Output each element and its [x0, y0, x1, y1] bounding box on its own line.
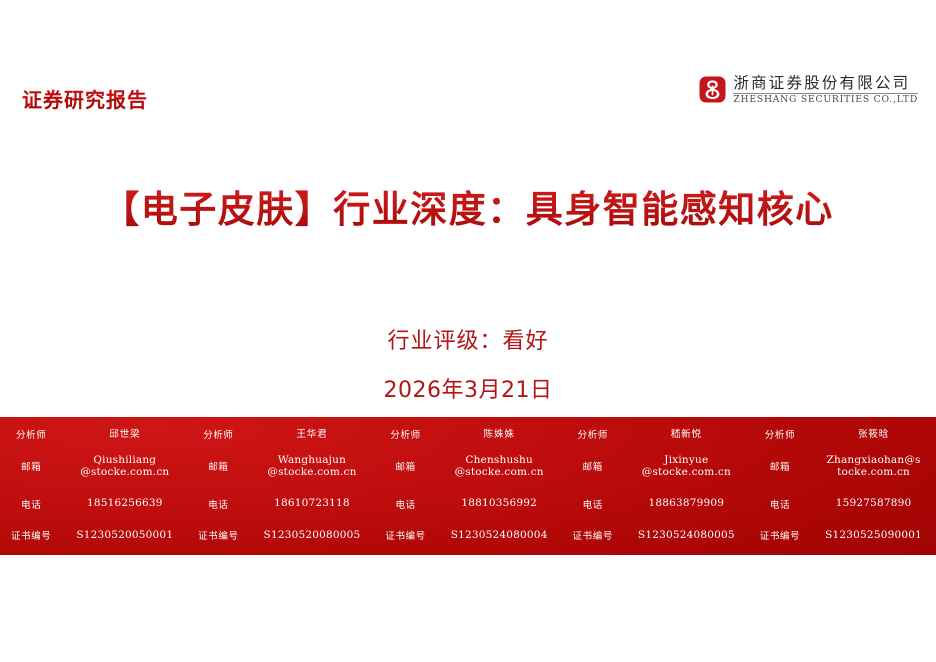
- analyst-cert-1: S1230520050001: [62, 520, 187, 555]
- table-row-email: 邮箱 Qiushiliang @stocke.com.cn 邮箱 Wanghua…: [0, 445, 936, 487]
- analyst-phone-5[interactable]: 15927587890: [811, 487, 936, 520]
- label-analyst-1: 分析师: [0, 417, 62, 445]
- label-phone-4: 电话: [562, 487, 624, 520]
- analyst-email-1[interactable]: Qiushiliang @stocke.com.cn: [62, 445, 187, 487]
- label-email-5: 邮箱: [749, 445, 811, 487]
- analyst-table: 分析师 邱世梁 分析师 王华君 分析师 陈姝姝 分析师 嵇新悦 分析师 张筱晗 …: [0, 417, 936, 555]
- label-cert-3: 证书编号: [374, 520, 436, 555]
- analyst-email-5[interactable]: Zhangxiaohan@s tocke.com.cn: [811, 445, 936, 487]
- industry-rating: 行业评级：看好: [0, 323, 936, 355]
- company-name-block: 浙商证券股份有限公司 ZHESHANG SECURITIES CO.,LTD: [733, 75, 918, 104]
- label-email-1: 邮箱: [0, 445, 62, 487]
- email-line-1a: Qiushiliang: [64, 454, 185, 466]
- label-analyst-4: 分析师: [562, 417, 624, 445]
- email-line-2b: @stocke.com.cn: [252, 466, 373, 478]
- analyst-name-5: 张筱晗: [811, 417, 936, 445]
- label-email-4: 邮箱: [562, 445, 624, 487]
- email-line-5b: tocke.com.cn: [813, 466, 934, 478]
- label-analyst-3: 分析师: [374, 417, 436, 445]
- analyst-email-2[interactable]: Wanghuajun @stocke.com.cn: [250, 445, 375, 487]
- email-line-4b: @stocke.com.cn: [626, 466, 747, 478]
- table-row-phone: 电话 18516256639 电话 18610723118 电话 1881035…: [0, 487, 936, 520]
- analyst-cert-2: S1230520080005: [250, 520, 375, 555]
- report-cover-page: 证券研究报告 浙商证券股份有限公司 ZHESHANG SECURITIES CO…: [0, 0, 936, 662]
- report-kicker: 证券研究报告: [22, 84, 148, 113]
- report-date: 2026年3月21日: [0, 372, 936, 404]
- label-analyst-2: 分析师: [187, 417, 249, 445]
- label-phone-2: 电话: [187, 487, 249, 520]
- company-logo: 浙商证券股份有限公司 ZHESHANG SECURITIES CO.,LTD: [699, 75, 918, 104]
- company-name-en: ZHESHANG SECURITIES CO.,LTD: [733, 95, 918, 105]
- analyst-email-3[interactable]: Chenshushu @stocke.com.cn: [437, 445, 562, 487]
- label-email-3: 邮箱: [374, 445, 436, 487]
- label-phone-1: 电话: [0, 487, 62, 520]
- email-line-3b: @stocke.com.cn: [439, 466, 560, 478]
- company-name-cn: 浙商证券股份有限公司: [733, 75, 918, 91]
- analyst-name-3: 陈姝姝: [437, 417, 562, 445]
- email-line-2a: Wanghuajun: [252, 454, 373, 466]
- label-phone-3: 电话: [374, 487, 436, 520]
- analyst-email-4[interactable]: Jixinyue @stocke.com.cn: [624, 445, 749, 487]
- label-email-2: 邮箱: [187, 445, 249, 487]
- analyst-name-1: 邱世梁: [62, 417, 187, 445]
- analyst-cert-4: S1230524080005: [624, 520, 749, 555]
- label-phone-5: 电话: [749, 487, 811, 520]
- label-cert-1: 证书编号: [0, 520, 62, 555]
- label-cert-2: 证书编号: [187, 520, 249, 555]
- analyst-phone-4[interactable]: 18863879909: [624, 487, 749, 520]
- page-header: 证券研究报告 浙商证券股份有限公司 ZHESHANG SECURITIES CO…: [0, 0, 936, 150]
- zheshang-logo-icon: [699, 76, 726, 103]
- label-analyst-5: 分析师: [749, 417, 811, 445]
- analyst-phone-1[interactable]: 18516256639: [62, 487, 187, 520]
- analyst-info-band: 分析师 邱世梁 分析师 王华君 分析师 陈姝姝 分析师 嵇新悦 分析师 张筱晗 …: [0, 417, 936, 555]
- email-line-3a: Chenshushu: [439, 454, 560, 466]
- analyst-name-4: 嵇新悦: [624, 417, 749, 445]
- email-line-4a: Jixinyue: [626, 454, 747, 466]
- title-block: 【电子皮肤】行业深度：具身智能感知核心: [0, 186, 936, 234]
- analyst-name-2: 王华君: [250, 417, 375, 445]
- analyst-phone-2[interactable]: 18610723118: [250, 487, 375, 520]
- table-row-analyst: 分析师 邱世梁 分析师 王华君 分析师 陈姝姝 分析师 嵇新悦 分析师 张筱晗: [0, 417, 936, 445]
- label-cert-5: 证书编号: [749, 520, 811, 555]
- label-cert-4: 证书编号: [562, 520, 624, 555]
- analyst-phone-3[interactable]: 18810356992: [437, 487, 562, 520]
- email-line-1b: @stocke.com.cn: [64, 466, 185, 478]
- email-line-5a: Zhangxiaohan@s: [813, 454, 934, 466]
- page-title: 【电子皮肤】行业深度：具身智能感知核心: [0, 186, 936, 234]
- analyst-cert-3: S1230524080004: [437, 520, 562, 555]
- table-row-cert: 证书编号 S1230520050001 证书编号 S1230520080005 …: [0, 520, 936, 555]
- analyst-cert-5: S1230525090001: [811, 520, 936, 555]
